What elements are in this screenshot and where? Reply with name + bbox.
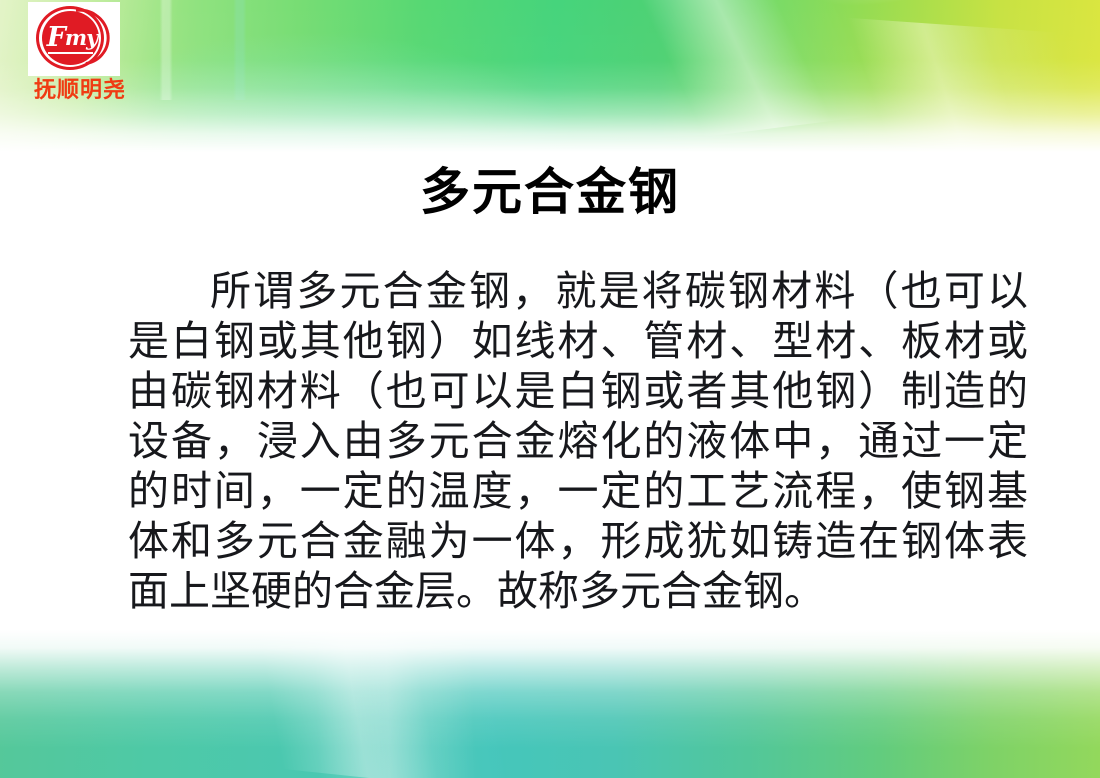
logo-letter-my: my — [65, 27, 97, 48]
logo-lettering: Fmy — [28, 2, 120, 76]
logo-letter-f: F — [47, 24, 65, 51]
page-title: 多元合金钢 — [0, 165, 1100, 220]
logo-underline — [48, 52, 93, 54]
logo-caption: 抚顺明尧 — [14, 79, 146, 103]
body-paragraph: 所谓多元合金钢，就是将碳钢材料（也可以是白钢或其他钢）如线材、管材、型材、板材或… — [128, 266, 1028, 616]
brand-logo: Fmy 抚顺明尧 — [14, 2, 146, 103]
presentation-slide: Fmy 抚顺明尧 多元合金钢 所谓多元合金钢，就是将碳钢材料（也可以是白钢或其他… — [0, 0, 1100, 778]
fmy-circle-logo-icon: Fmy — [28, 2, 120, 76]
slide-content: 多元合金钢 所谓多元合金钢，就是将碳钢材料（也可以是白钢或其他钢）如线材、管材、… — [0, 0, 1100, 778]
